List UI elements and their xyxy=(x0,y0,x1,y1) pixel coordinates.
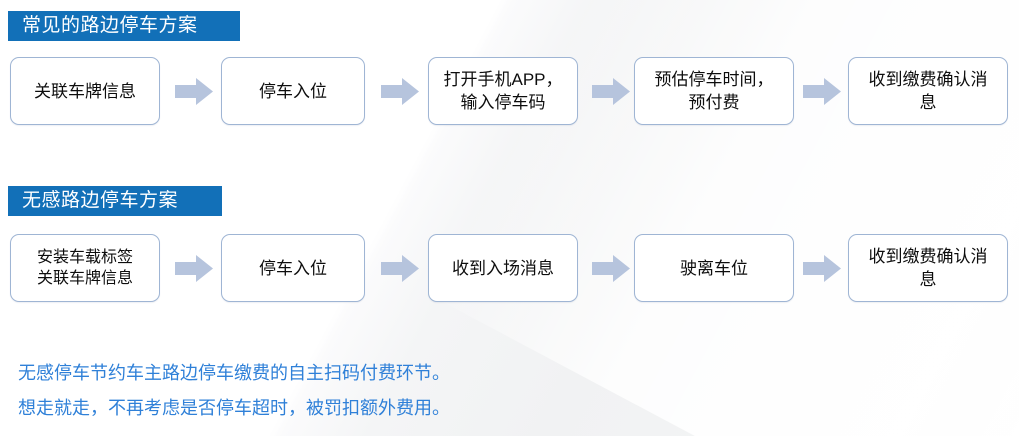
flow-step-1-3[interactable]: 打开手机APP， 输入停车码 xyxy=(428,57,578,125)
flow-step-label: 驶离车位 xyxy=(680,257,748,280)
flow-step-label: 停车入位 xyxy=(259,80,327,103)
flow-step-1-1[interactable]: 关联车牌信息 xyxy=(10,57,160,125)
right-block-arrow-icon xyxy=(803,255,841,282)
right-block-arrow-icon xyxy=(803,78,841,105)
flow-step-label: 停车入位 xyxy=(259,257,327,280)
section-title-common-roadside-parking: 常见的路边停车方案 xyxy=(8,11,240,41)
flow-step-label: 收到入场消息 xyxy=(452,257,554,280)
flow-step-1-2[interactable]: 停车入位 xyxy=(221,57,365,125)
flow-step-2-3[interactable]: 收到入场消息 xyxy=(428,234,578,302)
summary-note-line-1: 无感停车节约车主路边停车缴费的自主扫码付费环节。 xyxy=(18,361,450,385)
flow-step-label-line-1: 打开手机APP， xyxy=(443,68,562,91)
right-block-arrow-icon xyxy=(175,78,213,105)
right-block-arrow-icon xyxy=(592,78,630,105)
flow-step-1-4[interactable]: 预估停车时间， 预付费 xyxy=(634,57,794,125)
slide-canvas: 常见的路边停车方案 关联车牌信息 停车入位 打开手机APP， 输入停车码 xyxy=(0,0,1019,436)
flow-step-label-line-1: 预估停车时间， xyxy=(655,68,774,91)
flow-step-label-line-2: 息 xyxy=(869,91,988,114)
summary-note-line-2: 想走就走，不再考虑是否停车超时，被罚扣额外费用。 xyxy=(18,396,450,420)
flow-step-2-4[interactable]: 驶离车位 xyxy=(634,234,794,302)
section-title-sensorless-roadside-parking: 无感路边停车方案 xyxy=(8,186,222,216)
flow-step-1-5[interactable]: 收到缴费确认消 息 xyxy=(848,57,1008,125)
flow-step-2-5[interactable]: 收到缴费确认消 息 xyxy=(848,234,1008,302)
flow-step-2-2[interactable]: 停车入位 xyxy=(221,234,365,302)
flow-step-label-line-2: 预付费 xyxy=(655,91,774,114)
flow-step-label-line-1: 收到缴费确认消 xyxy=(869,68,988,91)
right-block-arrow-icon xyxy=(175,255,213,282)
flow-row-sensorless-roadside-parking: 安装车载标签 关联车牌信息 停车入位 收到入场消息 驶离车位 xyxy=(0,234,1019,302)
flow-step-label-line-1: 收到缴费确认消 xyxy=(869,245,988,268)
right-block-arrow-icon xyxy=(381,255,419,282)
flow-step-label-line-2: 输入停车码 xyxy=(443,91,562,114)
flow-row-common-roadside-parking: 关联车牌信息 停车入位 打开手机APP， 输入停车码 xyxy=(0,57,1019,125)
flow-step-label-line-2: 关联车牌信息 xyxy=(37,268,133,289)
flow-step-label-line-1: 安装车载标签 xyxy=(37,247,133,268)
right-block-arrow-icon xyxy=(592,255,630,282)
flow-step-label-line-2: 息 xyxy=(869,268,988,291)
flow-step-2-1[interactable]: 安装车载标签 关联车牌信息 xyxy=(10,234,160,302)
right-block-arrow-icon xyxy=(381,78,419,105)
flow-step-label: 关联车牌信息 xyxy=(34,80,136,103)
